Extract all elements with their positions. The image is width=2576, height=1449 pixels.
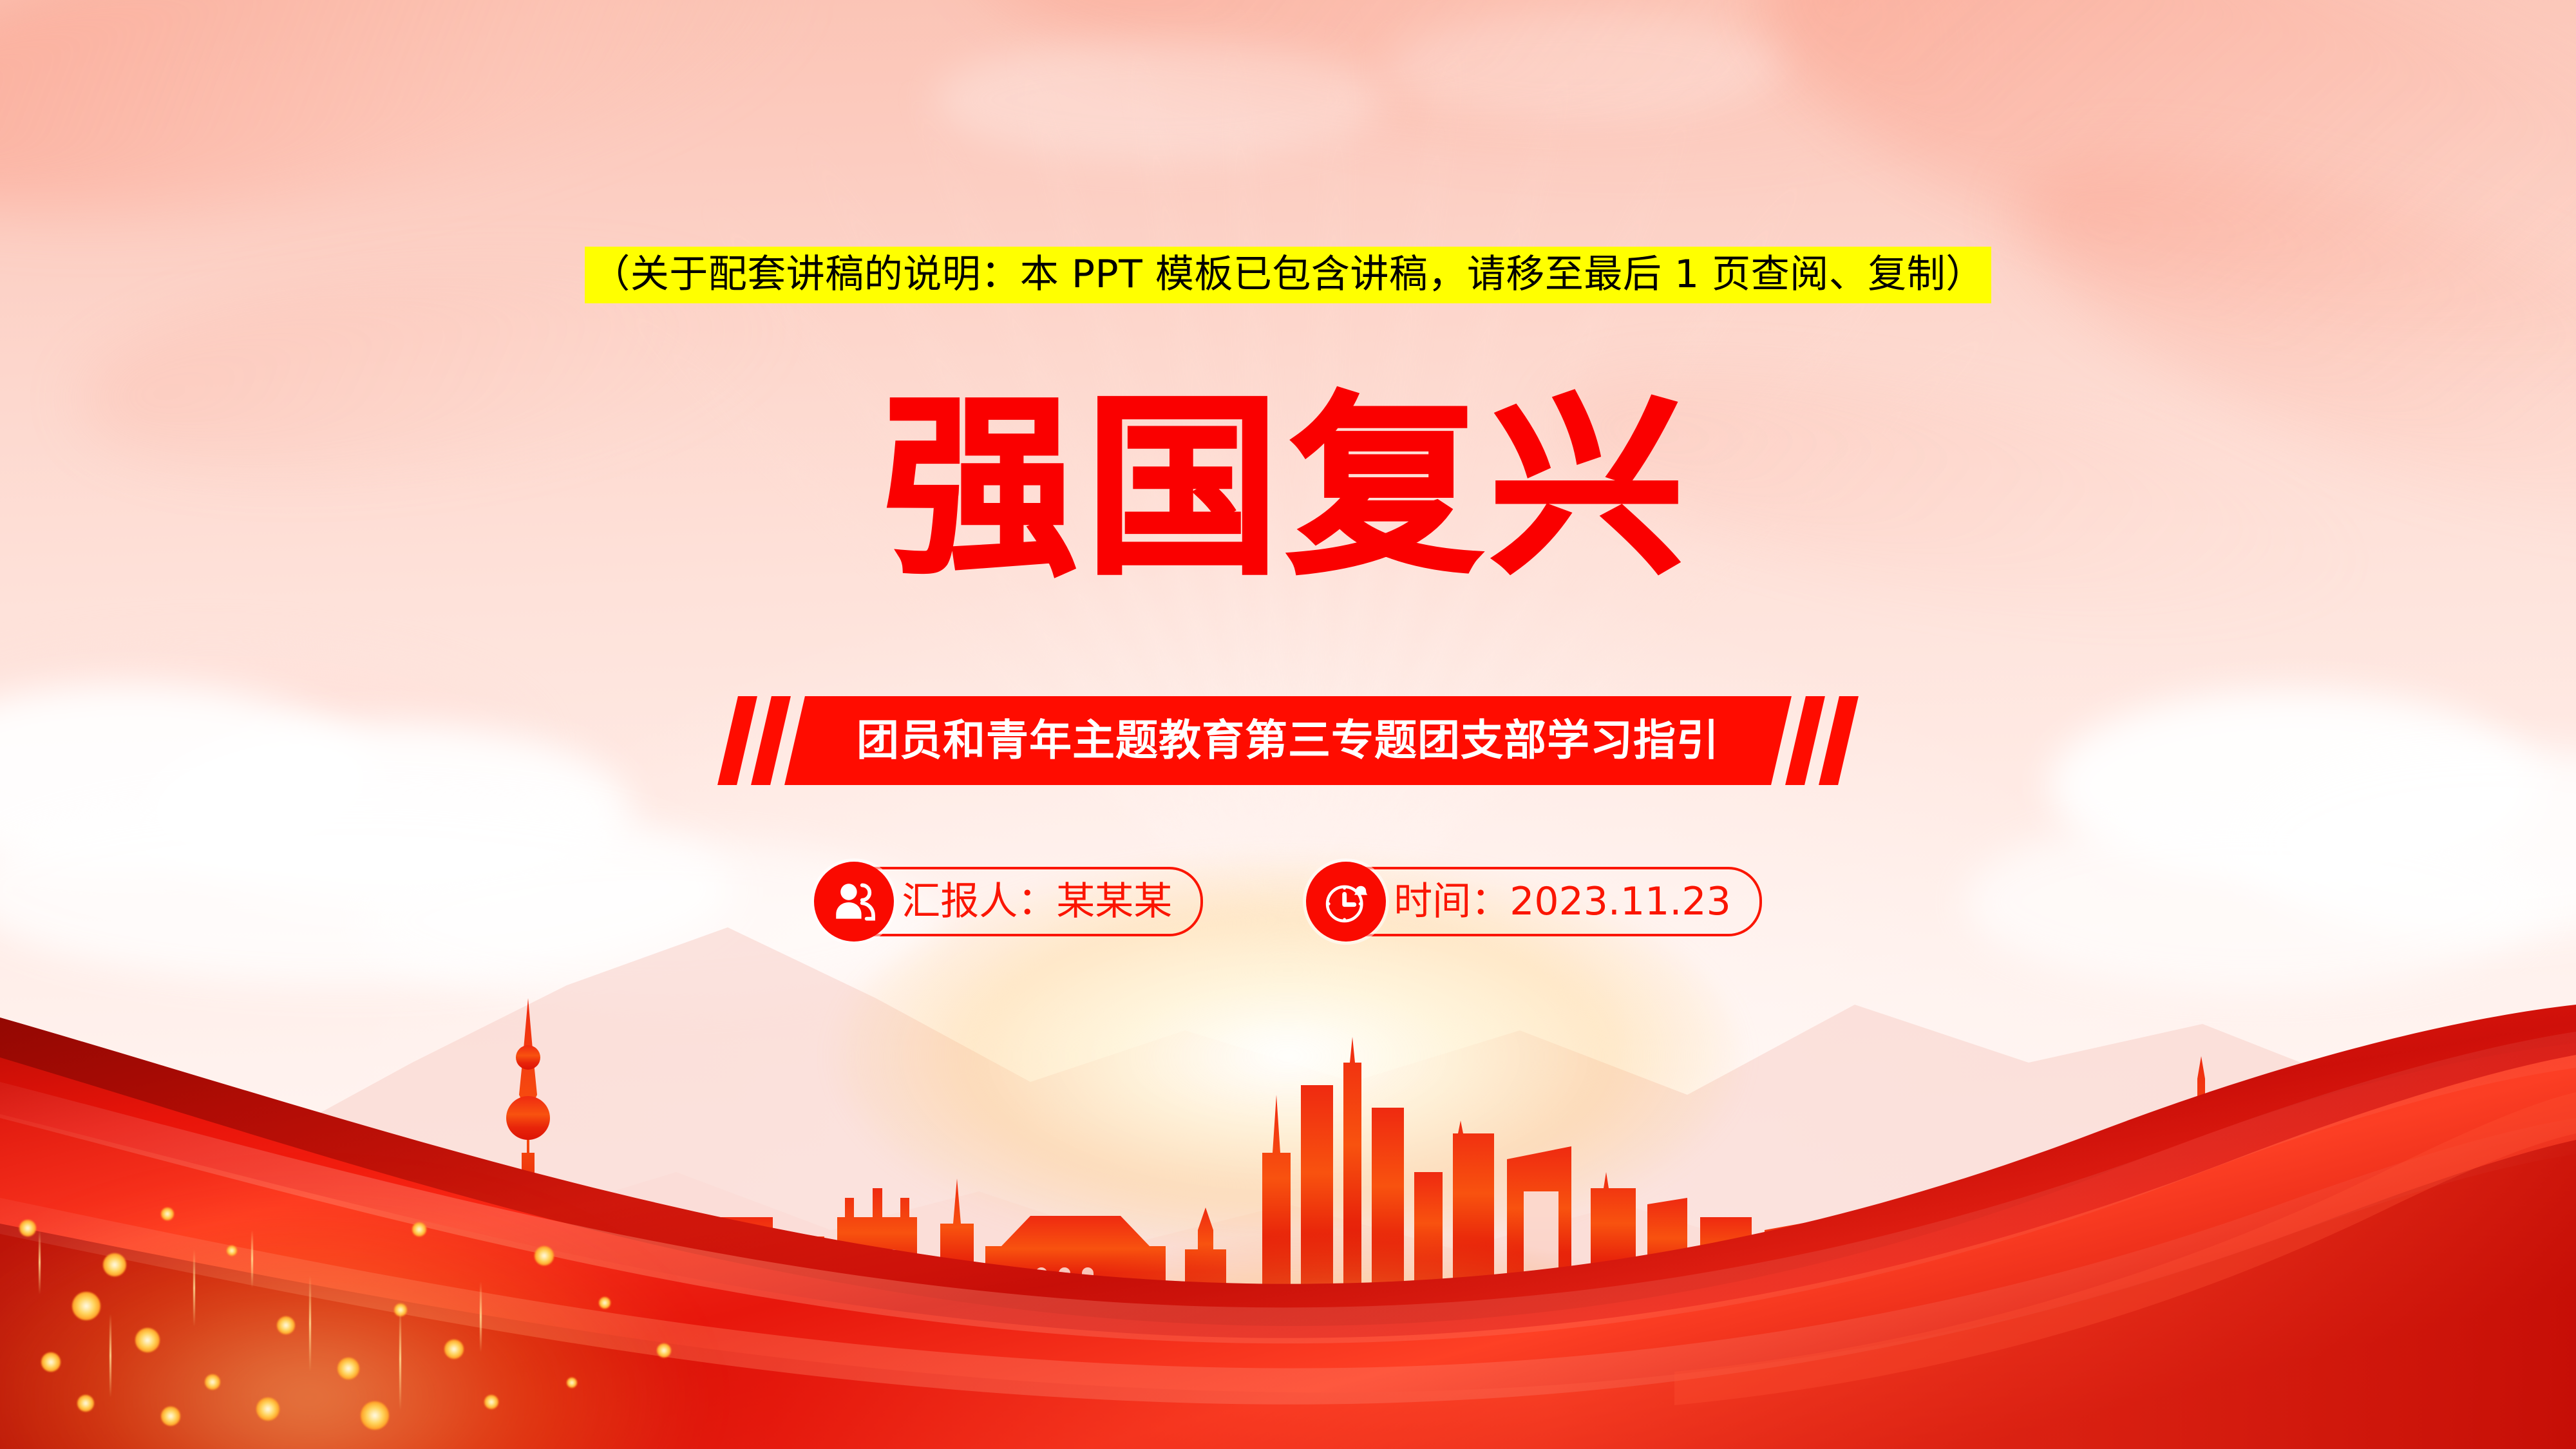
banner-stripe-right-1: [1785, 696, 1825, 785]
date-badge: [1306, 862, 1386, 942]
users-icon: [830, 878, 878, 925]
notice-bar: （关于配套讲稿的说明：本 PPT 模板已包含讲稿，请移至最后 1 页查阅、复制）: [0, 247, 2576, 303]
banner-stripe-left-2: [751, 696, 791, 785]
banner-body: 团员和青年主题教育第三专题团支部学习指引: [784, 696, 1792, 785]
presenter-pill[interactable]: 汇报人：某某某: [814, 862, 1203, 942]
notice-text: （关于配套讲稿的说明：本 PPT 模板已包含讲稿，请移至最后 1 页查阅、复制）: [585, 247, 1991, 303]
page-title: 强国复兴: [0, 385, 2576, 591]
banner-stripe-left-1: [717, 696, 757, 785]
clock-icon: [1322, 878, 1370, 925]
banner-text: 团员和青年主题教育第三专题团支部学习指引: [857, 717, 1719, 764]
meta-row: 汇报人：某某某 时间：2023.11.23: [0, 862, 2576, 942]
presenter-label: 汇报人：某某某: [902, 882, 1172, 922]
date-pill[interactable]: 时间：2023.11.23: [1306, 862, 1762, 942]
presentation-slide: （关于配套讲稿的说明：本 PPT 模板已包含讲稿，请移至最后 1 页查阅、复制）…: [0, 0, 2576, 1449]
banner-stripe-right-2: [1819, 696, 1859, 785]
presenter-badge: [814, 862, 894, 942]
presenter-body: 汇报人：某某某: [854, 867, 1203, 936]
red-silk-ribbon: [0, 921, 2576, 1449]
date-label: 时间：2023.11.23: [1394, 882, 1731, 922]
subtitle-banner: 团员和青年主题教育第三专题团支部学习指引: [0, 696, 2576, 786]
date-body: 时间：2023.11.23: [1346, 867, 1762, 936]
